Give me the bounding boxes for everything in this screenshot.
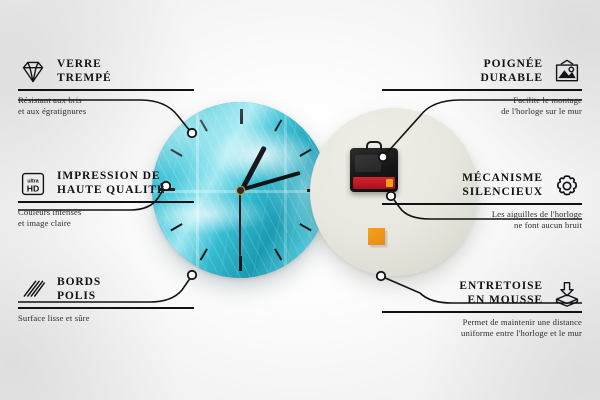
callout-header: ENTRETOISE EN MOUSSE (382, 280, 582, 307)
polished-edges-icon (18, 277, 48, 303)
callout-verre-trempe[interactable]: VERRE TREMPÉ Résistant aux bris et aux é… (18, 58, 218, 117)
callout-title: VERRE TREMPÉ (57, 58, 112, 85)
callout-header: ultra HD IMPRESSION DE HAUTE QUALITÉ (18, 170, 218, 197)
callout-description: Permet de maintenir une distance uniform… (382, 317, 582, 339)
svg-text:HD: HD (27, 183, 40, 193)
callout-entretoise-en-mousse[interactable]: ENTRETOISE EN MOUSSE Permet de maintenir… (382, 280, 582, 339)
movement-label (355, 155, 381, 172)
callout-title: BORDS POLIS (57, 276, 101, 303)
callout-bords-polis[interactable]: BORDS POLIS Surface lisse et sûre (18, 276, 218, 324)
callout-title: MÉCANISME SILENCIEUX (462, 172, 543, 199)
infographic-canvas: VERRE TREMPÉ Résistant aux bris et aux é… (0, 0, 600, 400)
callout-rule (382, 203, 582, 205)
callout-description: Les aiguilles de l'horloge ne font aucun… (382, 209, 582, 231)
callout-rule (18, 201, 194, 203)
callout-header: MÉCANISME SILENCIEUX (382, 172, 582, 199)
callout-description: Surface lisse et sûre (18, 313, 218, 324)
callout-poignee-durable[interactable]: POIGNÉE DURABLE Facilite le montage de l… (382, 58, 582, 117)
callout-mecanisme-silencieux[interactable]: MÉCANISME SILENCIEUX Les aiguilles de l'… (382, 172, 582, 231)
callout-header: BORDS POLIS (18, 276, 218, 303)
callout-rule (382, 311, 582, 313)
picture-hanger-icon (552, 59, 582, 85)
callout-rule (18, 89, 194, 91)
callout-rule (382, 89, 582, 91)
callout-title: ENTRETOISE EN MOUSSE (459, 280, 543, 307)
callout-description: Couleurs intenses et image claire (18, 207, 218, 229)
callout-title: IMPRESSION DE HAUTE QUALITÉ (57, 170, 166, 197)
ultra-hd-icon: ultra HD (18, 171, 48, 197)
diamond-icon (18, 59, 48, 85)
callout-header: VERRE TREMPÉ (18, 58, 218, 85)
callout-rule (18, 307, 194, 309)
hanger-lug (366, 141, 382, 150)
callout-description: Facilite le montage de l'horloge sur le … (382, 95, 582, 117)
callout-title: POIGNÉE DURABLE (480, 58, 543, 85)
foam-spacer-icon (552, 281, 582, 307)
callout-description: Résistant aux bris et aux égratignures (18, 95, 218, 117)
callout-impression-haute-qualite[interactable]: ultra HD IMPRESSION DE HAUTE QUALITÉ Cou… (18, 170, 218, 229)
gear-icon (552, 173, 582, 199)
callout-header: POIGNÉE DURABLE (382, 58, 582, 85)
